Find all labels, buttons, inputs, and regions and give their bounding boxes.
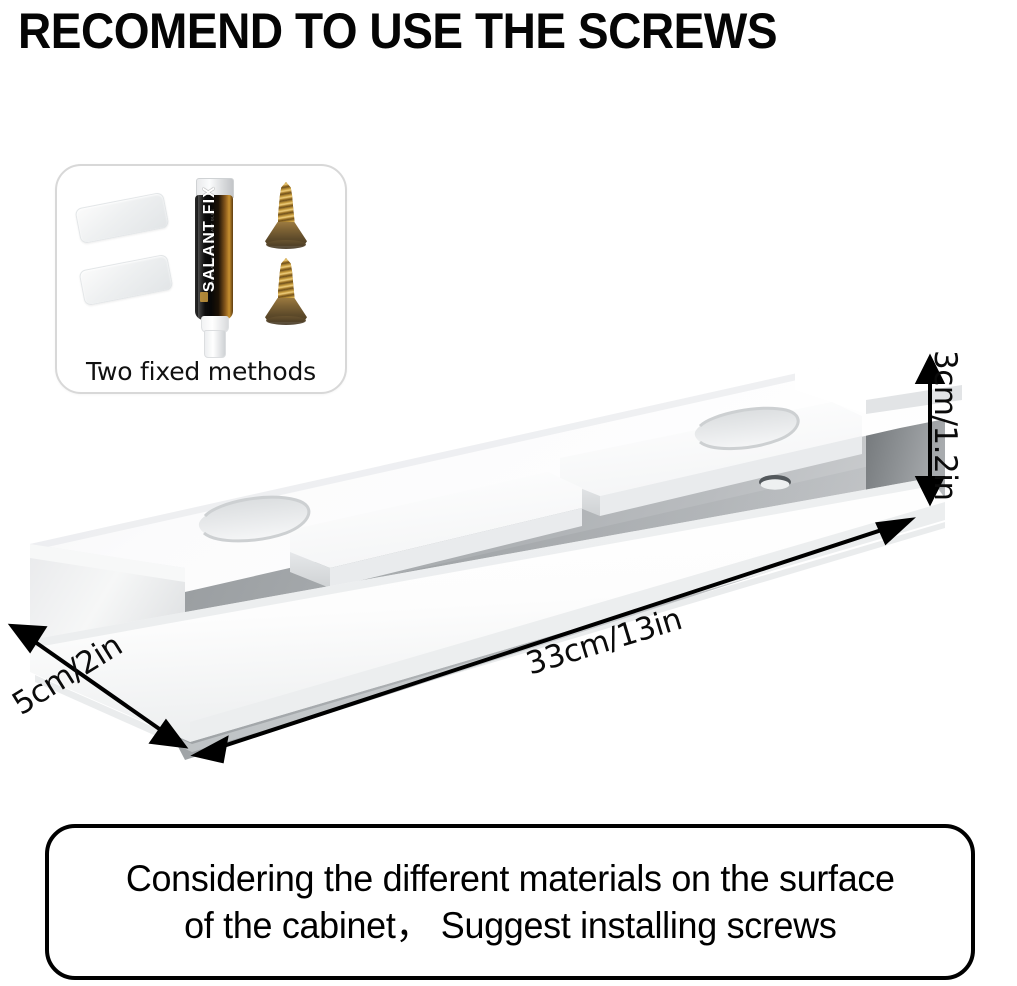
- screw-head-rim: [266, 316, 306, 325]
- screw-shaft: [278, 182, 295, 228]
- product-illustration: [0, 330, 1017, 820]
- adhesive-pad-icon-1: [74, 192, 169, 245]
- screw-hole-2: [759, 475, 791, 490]
- screw-icon-2: [265, 258, 307, 328]
- installation-note-box: Considering the different materials on t…: [45, 824, 975, 980]
- screw-head-rim: [266, 240, 306, 249]
- infographic-page: RECOMEND TO USE THE SCREWS SALANT FIX ST…: [0, 0, 1017, 986]
- adhesive-pad-icon-2: [78, 254, 173, 307]
- dimension-label-height: 3cm/1.2in: [927, 350, 963, 500]
- note-line-2: of the cabinet， Suggest installing screw…: [126, 902, 895, 949]
- glue-tube-microtext: STRONG ADHESIVE SEALANT GLUE: [210, 212, 215, 290]
- screw-shaft: [278, 258, 295, 304]
- screw-icon-1: [265, 182, 307, 252]
- note-line-1: Considering the different materials on t…: [126, 855, 895, 902]
- page-title: RECOMEND TO USE THE SCREWS: [18, 2, 846, 60]
- installation-note-text: Considering the different materials on t…: [126, 855, 895, 949]
